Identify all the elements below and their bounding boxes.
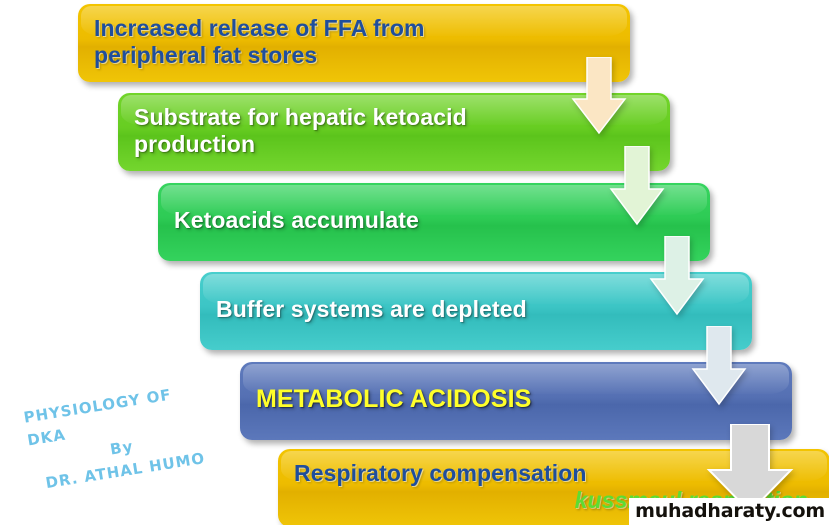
arrow-down-icon-2 <box>608 146 666 228</box>
step-ffa-release[interactable]: Increased release of FFA from peripheral… <box>78 4 630 82</box>
step-label-line1: Increased release of FFA from <box>94 15 614 42</box>
watermark-label: muhadharaty.com <box>629 498 829 525</box>
arrow-down-icon-4 <box>690 326 748 408</box>
step-label-line2: peripheral fat stores <box>94 42 614 69</box>
slide-canvas: Increased release of FFA from peripheral… <box>0 0 829 525</box>
arrow-down-icon-3 <box>648 236 706 318</box>
arrow-down-icon-1 <box>570 57 628 137</box>
handwritten-annotation: PHYSIOLOGY OF DKA By DR. ATHAL HUMO <box>14 377 226 497</box>
